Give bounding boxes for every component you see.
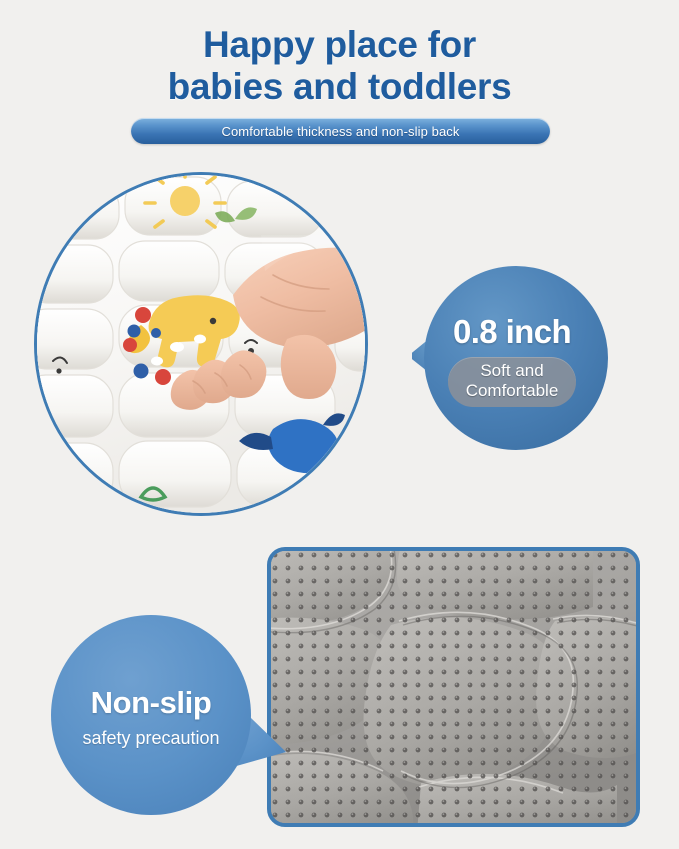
thickness-value: 0.8 inch [453, 313, 571, 351]
nonslip-callout-content: Non-slip safety precaution [48, 612, 254, 822]
soft-comfortable-pill: Soft and Comfortable [448, 357, 577, 407]
subtitle-banner-text: Comfortable thickness and non-slip back [221, 124, 459, 139]
nonslip-subtitle: safety precaution [82, 728, 219, 749]
subtitle-banner: Comfortable thickness and non-slip back [131, 118, 550, 144]
page-title-line-2: babies and toddlers [0, 66, 679, 108]
mattress-top-photo-illustration [37, 175, 365, 513]
thickness-callout-content: 0.8 inch Soft and Comfortable [412, 258, 612, 458]
soft-comfortable-line-2: Comfortable [466, 381, 559, 401]
infographic-page: Happy place for babies and toddlers Comf… [0, 0, 679, 849]
nonslip-callout-badge: Non-slip safety precaution [48, 612, 288, 822]
soft-comfortable-line-1: Soft and [466, 361, 559, 381]
page-title-line-1: Happy place for [0, 24, 679, 66]
thickness-callout-badge: 0.8 inch Soft and Comfortable [412, 258, 612, 458]
mattress-top-photo [34, 172, 368, 516]
nonslip-backing-photo [267, 547, 640, 827]
subtitle-banner-pill: Comfortable thickness and non-slip back [131, 118, 550, 144]
nonslip-title: Non-slip [91, 685, 212, 721]
header: Happy place for babies and toddlers [0, 24, 679, 108]
nonslip-backing-illustration [271, 551, 636, 823]
